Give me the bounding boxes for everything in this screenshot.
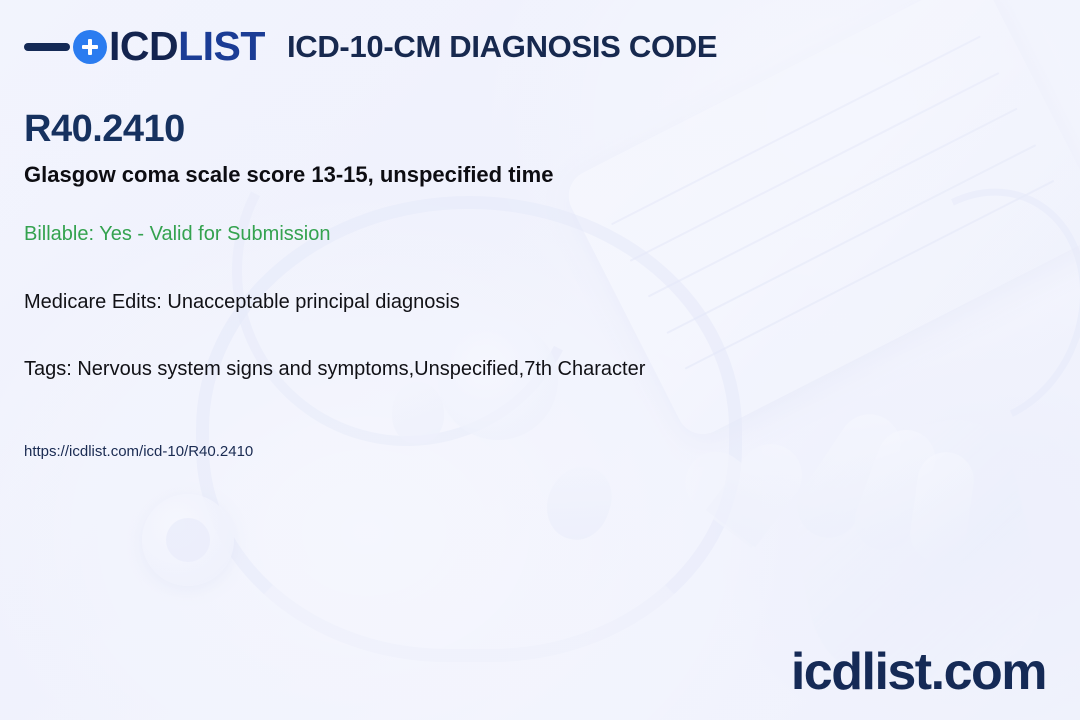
site-watermark: icdlist.com (791, 646, 1046, 698)
code-details: R40.2410 Glasgow coma scale score 13-15,… (24, 110, 1024, 461)
heart-shape-image (680, 442, 816, 578)
dash-icon (24, 43, 70, 51)
billable-status: Billable: Yes - Valid for Submission (24, 222, 1024, 246)
medicare-edits: Medicare Edits: Unacceptable principal d… (24, 290, 1024, 314)
tags-list: Tags: Nervous system signs and symptoms,… (24, 357, 1024, 381)
stethoscope-chestpiece-image (142, 494, 234, 586)
diagnosis-code: R40.2410 (24, 110, 1024, 150)
plus-circle-icon (73, 30, 107, 64)
hand-finger-image (907, 449, 978, 566)
icd-code-card: ICD LIST ICD-10-CM DIAGNOSIS CODE R40.24… (0, 0, 1080, 720)
stethoscope-eartip-right-image (538, 458, 620, 548)
logo-text-list: LIST (178, 26, 265, 67)
page-title: ICD-10-CM DIAGNOSIS CODE (287, 31, 717, 62)
icdlist-logo[interactable]: ICD LIST (24, 26, 265, 67)
source-url[interactable]: https://icdlist.com/icd-10/R40.2410 (24, 443, 1024, 461)
diagnosis-description: Glasgow coma scale score 13-15, unspecif… (24, 162, 1024, 188)
page-header: ICD LIST ICD-10-CM DIAGNOSIS CODE (24, 26, 717, 67)
logo-text-icd: ICD (109, 26, 178, 67)
